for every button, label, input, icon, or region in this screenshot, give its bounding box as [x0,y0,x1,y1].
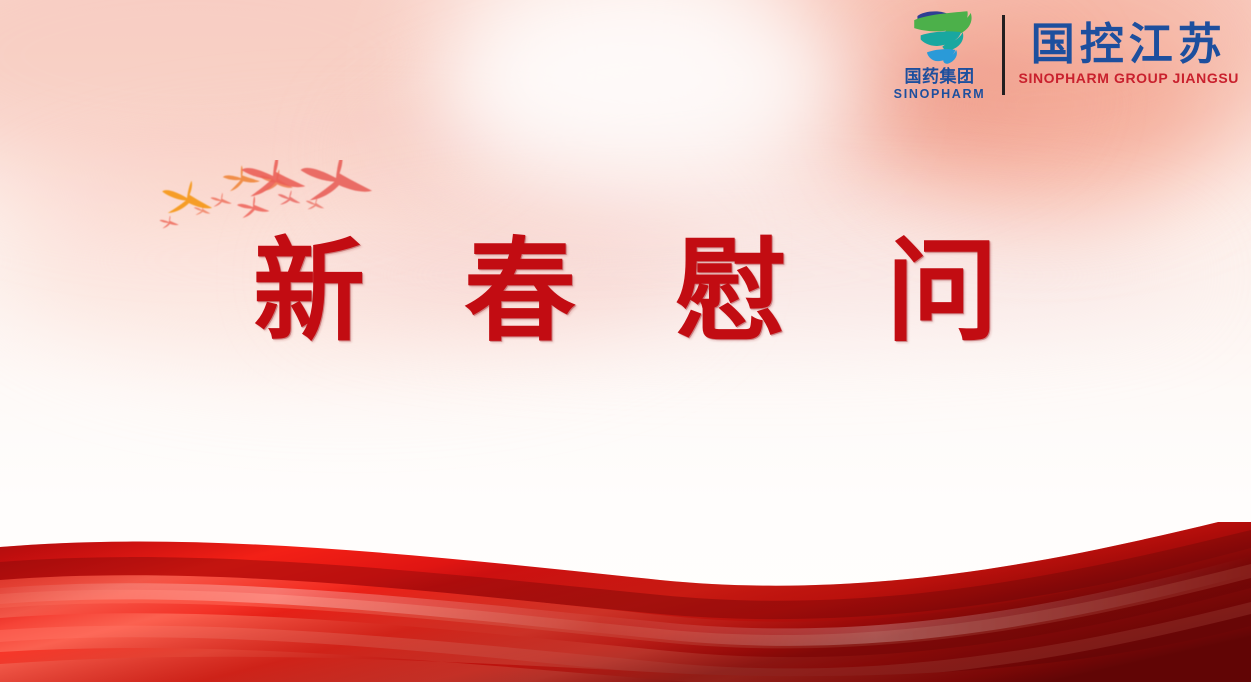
banner-title: 新 春 慰 问 [0,236,1251,348]
logo-divider [1002,15,1005,95]
jiangsu-english-name: SINOPHARM GROUP JIANGSU [1019,70,1239,87]
jiangsu-logo: 国控江苏 SINOPHARM GROUP JIANGSU [1019,23,1243,88]
red-silk-ribbon [0,522,1251,682]
new-year-greeting-banner: 国药集团 SINOPHARM 国控江苏 SINOPHARM GROUP JIAN… [0,0,1251,682]
sinopharm-swirl-mark [899,8,981,66]
sinopharm-logo: 国药集团 SINOPHARM [892,8,988,102]
sinopharm-english-name: SINOPHARM [894,87,986,101]
sinopharm-chinese-name: 国药集团 [905,68,975,86]
logo-lockup: 国药集团 SINOPHARM 国控江苏 SINOPHARM GROUP JIAN… [892,8,1243,102]
birds-group [159,160,372,229]
jiangsu-chinese-name: 国控江苏 [1031,23,1227,68]
